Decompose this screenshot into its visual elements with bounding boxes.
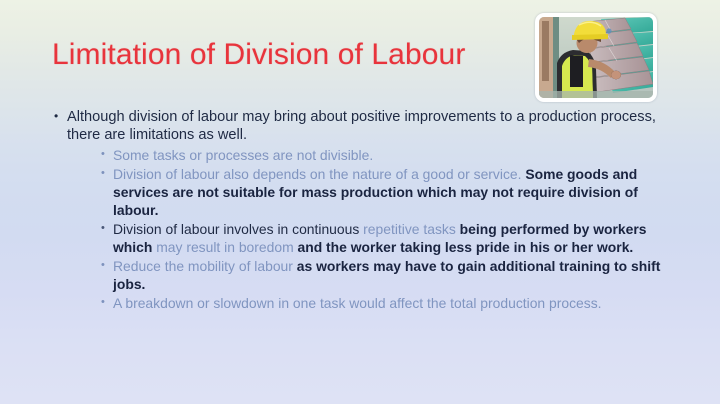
bullet-level2-item-5: A breakdown or slowdown in one task woul… [100, 295, 672, 313]
bullet-list-level-1: Although division of labour may bring ab… [52, 108, 672, 313]
bullet-level2-item-3: Division of labour involves in continuou… [100, 221, 672, 257]
bullet-item-3-pre: Division of labour involves in continuou… [113, 221, 363, 237]
bullet-level2-item-2: Division of labour also depends on the n… [100, 166, 672, 219]
bullet-level2-item-4: Reduce the mobility of labour as workers… [100, 258, 672, 294]
bullet-item-3-post: and the worker taking less pride in his … [294, 239, 634, 255]
slide-picture-frame [535, 13, 657, 102]
bullet-item-2-accent: Division of labour also depends on the n… [113, 166, 522, 182]
bullet-item-5-accent: A breakdown or slowdown in one task woul… [113, 295, 602, 311]
bullet-list-level-2: Some tasks or processes are not divisibl… [100, 147, 672, 313]
bullet-level1-text: Although division of labour may bring ab… [67, 108, 672, 145]
slide-title: Limitation of Division of Labour [52, 36, 465, 74]
slide-picture [539, 17, 653, 98]
bullet-item-1-accent: Some tasks or processes are not divisibl… [113, 147, 373, 163]
bullet-item-3-accent-1: repetitive tasks [363, 221, 456, 237]
slide-body: Although division of labour may bring ab… [52, 108, 672, 314]
construction-worker-photo-icon [539, 17, 653, 98]
bullet-level2-item-1: Some tasks or processes are not divisibl… [100, 147, 672, 165]
bullet-level1-item: Although division of labour may bring ab… [52, 108, 672, 313]
bullet-item-4-accent: Reduce the mobility of labour [113, 258, 293, 274]
bullet-item-3-accent-2: may result in boredom [156, 239, 293, 255]
presentation-slide: Limitation of Division of Labour [0, 0, 720, 404]
